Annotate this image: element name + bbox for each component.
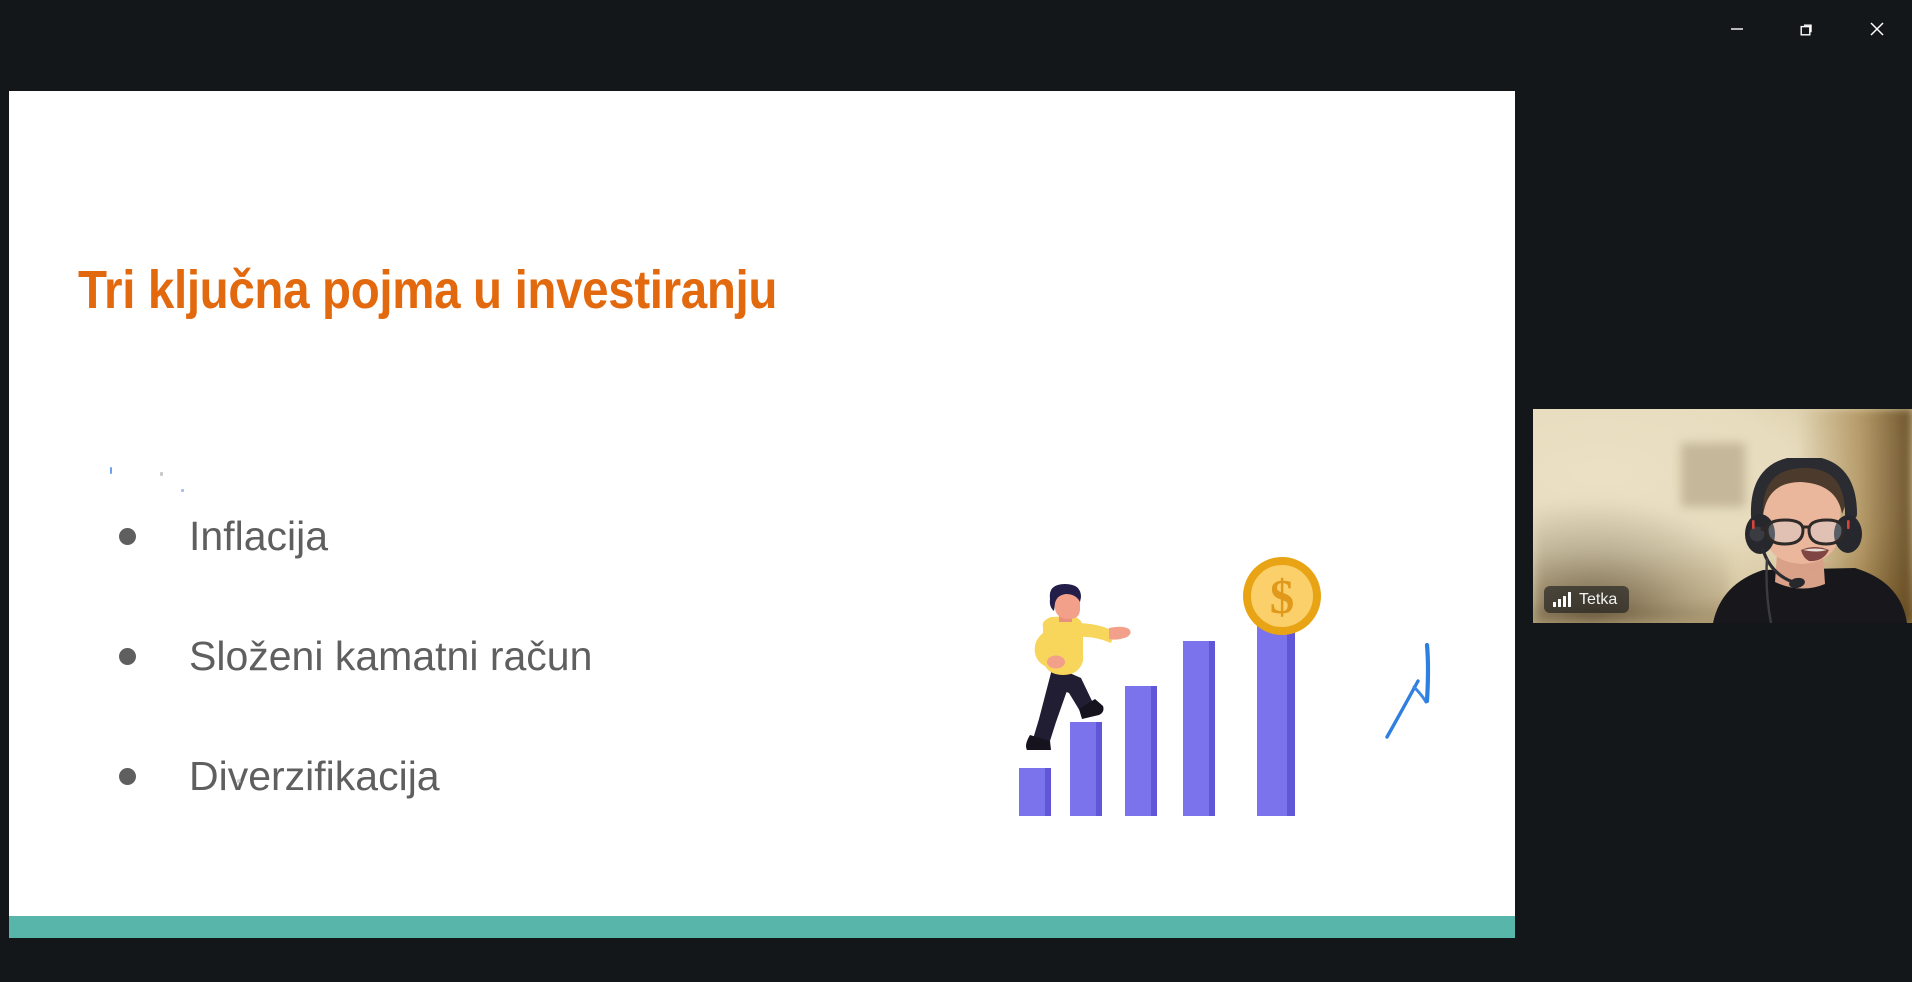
- ink-speck: [160, 472, 163, 476]
- ink-speck: [181, 489, 184, 492]
- bullet-label: Inflacija: [189, 516, 328, 557]
- participant-name-label: Tetka: [1579, 592, 1617, 608]
- ink-annotation: [1381, 639, 1451, 744]
- slide-canvas[interactable]: Tri ključna pojma u investiranju Inflaci…: [9, 91, 1515, 938]
- window-titlebar: [0, 0, 1912, 58]
- bullet-label: Složeni kamatni račun: [189, 636, 592, 677]
- climbing-person-illustration: [1019, 583, 1139, 763]
- restore-button[interactable]: [1772, 0, 1842, 58]
- participant-name-badge: Tetka: [1544, 586, 1629, 613]
- participant-webcam-figure: [1705, 458, 1910, 623]
- ink-speck: [110, 467, 112, 474]
- restore-icon: [1796, 18, 1818, 40]
- signal-bars-icon: [1553, 592, 1571, 607]
- minimize-icon: [1726, 18, 1748, 40]
- chart-bar: [1183, 641, 1215, 816]
- list-item: Složeni kamatni račun: [119, 596, 879, 716]
- close-icon: [1866, 18, 1888, 40]
- chart-bar: [1019, 768, 1051, 816]
- dollar-coin-icon: $: [1243, 557, 1321, 635]
- slide-footer-accent-bar: [9, 916, 1515, 938]
- list-item: Inflacija: [119, 476, 879, 596]
- bullet-dot-icon: [119, 648, 136, 665]
- participant-video-tile[interactable]: Tetka: [1533, 409, 1912, 623]
- close-button[interactable]: [1842, 0, 1912, 58]
- ink-speck: [237, 779, 241, 783]
- bullet-dot-icon: [119, 528, 136, 545]
- bullet-label: Diverzifikacija: [189, 756, 440, 797]
- list-item: Diverzifikacija: [119, 716, 879, 836]
- minimize-button[interactable]: [1702, 0, 1772, 58]
- presentation-window: Tri ključna pojma u investiranju Inflaci…: [0, 0, 1912, 982]
- growth-bars-illustration: $: [1019, 561, 1349, 816]
- slide-title: Tri ključna pojma u investiranju: [78, 259, 777, 321]
- bullet-dot-icon: [119, 768, 136, 785]
- slide-bullet-list: Inflacija Složeni kamatni račun Diverzif…: [119, 476, 879, 836]
